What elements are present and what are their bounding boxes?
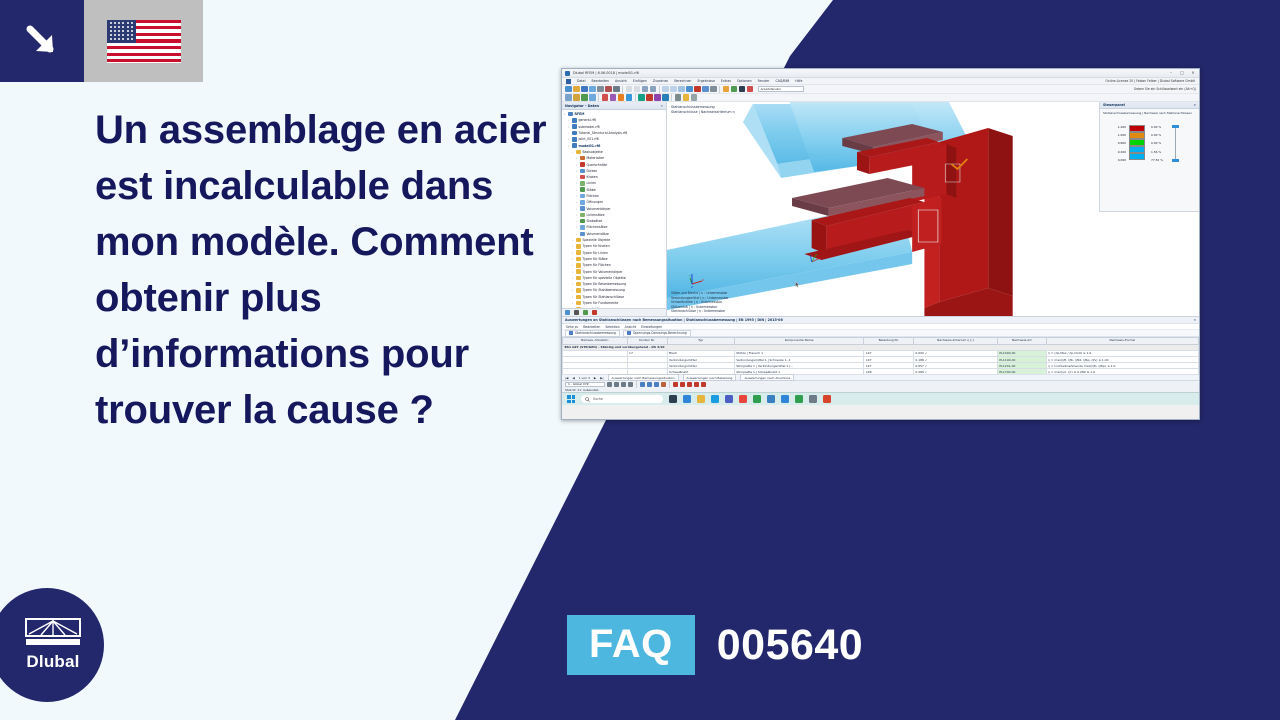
minimize-button[interactable]: – (1168, 70, 1174, 76)
navigator-item-icon (572, 143, 577, 148)
toolbar2-icon-stress[interactable] (654, 94, 661, 101)
status-icon-members[interactable] (687, 382, 692, 387)
toolbar2-icon-annotate[interactable] (683, 94, 690, 101)
app-icon (565, 71, 570, 76)
color-legend: 1.2001.0000.8000.2000.000 0.00 %0.00 %0.… (1100, 125, 1199, 162)
navigator-item-label: Stäbe (587, 188, 596, 192)
faq-label: FAQ (567, 615, 695, 675)
legend-values: 1.2001.0000.8000.2000.000 (1114, 125, 1126, 162)
results-nav-next[interactable]: ▶ (594, 376, 596, 380)
app-statusbar: 1 - Global XYZ (562, 380, 1199, 387)
toolbar-icon-ortho[interactable] (678, 86, 685, 93)
navigator-item-label: model01.rf6 (579, 144, 601, 148)
toolbar-icon-load[interactable] (747, 86, 754, 93)
navigator-item-icon (572, 137, 577, 142)
toolbar-icon-section[interactable] (694, 86, 701, 93)
toolbar-icon-new[interactable] (565, 86, 572, 93)
navigator-item-icon (580, 219, 585, 224)
legend-percents: 0.00 %0.00 %0.00 %1.56 %77.52 % (1148, 125, 1163, 162)
toolbar-icon-print[interactable] (597, 86, 604, 93)
legend-percent: 0.00 % (1151, 125, 1163, 129)
faq-number: 005640 (717, 624, 864, 667)
taskbar-icon-teams[interactable] (725, 395, 733, 403)
viewport-label-line2: Stahlanschlüsse | Nachweiskriterium η (671, 110, 735, 115)
arrow-down-right-badge (0, 0, 84, 82)
navigator-item-icon (576, 250, 581, 255)
navigator-item-label: Typen für spezielle Objekte (583, 276, 626, 280)
navigator-item-label: submodel.rf6 (579, 125, 600, 129)
navigator-item-label: Linien (587, 181, 597, 185)
navigator-item-icon (580, 194, 585, 199)
viewport-status-lines: Stäbe und Bleche | η : UnbemessbarVerbin… (671, 291, 729, 314)
navigator-item-icon (580, 156, 585, 161)
status-icon-light[interactable] (661, 382, 666, 387)
license-info: Online-License 20 | Fabian Felber | Dlub… (1106, 79, 1196, 83)
legend-swatch (1129, 153, 1145, 160)
navigator-item-icon (580, 232, 585, 237)
navigator-close-icon[interactable]: ✕ (660, 104, 663, 108)
taskbar-icon-app-blue[interactable] (767, 395, 775, 403)
taskbar-icon-explorer-dark[interactable] (669, 395, 677, 403)
status-icon-supports[interactable] (680, 382, 685, 387)
results-column-header[interactable]: Bemess.-Situation (563, 338, 628, 345)
results-footer-tab-1[interactable]: Auswertungen nach Belastung (683, 374, 737, 381)
navigator-item-label: Typen für Stahlbemessung (583, 288, 625, 292)
app-title: Dlubal RFEM | 6.06.0018 | model01.rf6 (573, 71, 639, 75)
navigator-item-icon (576, 301, 581, 306)
toolbar-icon-view[interactable] (702, 86, 709, 93)
workspace-combo[interactable]: Arbeitsfenster (758, 86, 804, 92)
menu-item-fenster[interactable]: Fenster (758, 79, 770, 83)
status-icon-grid[interactable] (614, 382, 619, 387)
close-button[interactable]: ✕ (1190, 70, 1196, 76)
nav-footer-icon-display[interactable] (574, 310, 579, 315)
legend-percent: 0.00 % (1151, 133, 1163, 137)
toolbar-icon-copy[interactable] (626, 86, 633, 93)
results-close-icon[interactable]: ✕ (1193, 318, 1196, 322)
legend-percent: 0.00 % (1151, 141, 1163, 145)
results-nav-first[interactable]: |◀ (565, 376, 568, 380)
legend-swatch (1129, 125, 1145, 132)
results-footer-tab-2[interactable]: Auswertungen nach Anschluss (740, 374, 794, 381)
legend-swatch (1129, 139, 1145, 146)
status-icon-osnap[interactable] (628, 382, 633, 387)
toolbar-icon-results[interactable] (731, 86, 738, 93)
maximize-button[interactable]: □ (1179, 70, 1185, 76)
results-tab-steel-connection[interactable]: Stahlanschlussbemessung (565, 330, 620, 337)
taskbar-search-input[interactable]: Suche (581, 395, 663, 403)
navigator-item-icon (576, 257, 581, 262)
model-viewport[interactable]: Y X Z Stahlanschlussbemessung Stahlansch… (667, 102, 1199, 316)
navigator-item-icon (580, 206, 585, 211)
toolbar-icon-zoom[interactable] (710, 86, 717, 93)
navigator-item-icon (572, 131, 577, 136)
results-footer: |◀ ◀ 1 von 3 ▶ ▶| Auswertungen nach Beme… (562, 374, 1199, 380)
toolbar2-icon-deform[interactable] (638, 94, 645, 101)
results-column-header[interactable]: Knoten Nr. (627, 338, 667, 345)
legend-slider[interactable] (1172, 125, 1179, 162)
menu-item-cadbim[interactable]: CAD/BIM (775, 79, 789, 83)
results-menu-selektion[interactable]: Selektion (605, 325, 619, 329)
taskbar-icon-settings[interactable] (683, 395, 691, 403)
control-panel-close-icon[interactable]: ✕ (1193, 103, 1196, 107)
legend-swatch (1129, 132, 1145, 139)
toolbar-icon-saveas[interactable] (589, 86, 596, 93)
toolbar-icon-render[interactable] (686, 86, 693, 93)
toolbar-icon-snap[interactable] (670, 86, 677, 93)
navigator-item-icon (576, 295, 581, 300)
menubar-logo-icon (566, 79, 571, 84)
results-tab-stress-strain[interactable]: Spannungs-Dehnungs-Berechnung (623, 330, 691, 337)
navigator-item-label: Knoten (587, 175, 598, 179)
toolbar2-icon-support[interactable] (610, 94, 617, 101)
legend-value: 1.200 (1114, 125, 1126, 129)
results-tab-label-1: Spannungs-Dehnungs-Berechnung (633, 331, 687, 335)
navigator-item-icon (568, 112, 573, 117)
taskbar-icon-chrome[interactable] (739, 395, 747, 403)
toolbar2-icon-node[interactable] (602, 94, 609, 101)
toolbar2-icon-layers[interactable] (691, 94, 698, 101)
control-panel-subtitle: Stahlanschlussbemessung | Nachweis nach … (1100, 109, 1199, 117)
faq-footer: FAQ 005640 (567, 615, 863, 675)
navigator-item-label: Flächen (587, 194, 599, 198)
svg-text:X: X (702, 278, 704, 282)
navigator-item-label: Typen für Stahlanschlüsse (583, 295, 625, 299)
navigator-item-icon (576, 282, 581, 287)
results-title-text: Auswertungen an Stahlanschlüssen nach Be… (565, 318, 783, 322)
dlubal-logo: Dlubal (0, 588, 104, 702)
navigator-item-icon (580, 169, 585, 174)
navigator-item-label: Basisobjekte (583, 150, 603, 154)
results-menu-gehezu[interactable]: Sehe zu (566, 325, 578, 329)
navigator-item-label: Typen für Volumenkörper (583, 270, 623, 274)
viewport-result-label: Stahlanschlussbemessung Stahlanschlüsse … (671, 105, 735, 115)
navigator-item-icon (576, 238, 581, 243)
navigator-panel: Navigator - Daten ✕ ›RFEM›general.rf6›su… (562, 102, 667, 316)
navigator-item-label: Typen für Flächen (583, 263, 611, 267)
results-menu-einstellungen[interactable]: Einstellungen (641, 325, 662, 329)
results-tab-strip[interactable]: Stahlanschlussbemessung Spannungs-Dehnun… (562, 330, 1199, 337)
nav-footer-icon-data[interactable] (565, 310, 570, 315)
status-icon-wire[interactable] (647, 382, 652, 387)
menu-item-optionen[interactable]: Optionen (737, 79, 752, 83)
viewport-status-line: Stahlanschlüsse | η : Unbemessbar (671, 309, 729, 314)
results-grid[interactable]: Bemess.-SituationKnoten Nr.TypKomponente… (562, 337, 1199, 374)
navigator-item-label: Volumensätze (587, 232, 609, 236)
taskbar-search-placeholder: Suche (593, 397, 603, 401)
toolbar-icon-calc[interactable] (723, 86, 730, 93)
rfem-application-screenshot: Dlubal RFEM | 6.06.0018 | model01.rf6 – … (561, 68, 1200, 420)
results-menu-bearbeiten[interactable]: Bearbeiten (583, 325, 600, 329)
results-nav-prev[interactable]: ◀ (572, 376, 574, 380)
navigator-item-label: Materialien (587, 156, 605, 160)
legend-swatch (1129, 146, 1145, 153)
taskbar-icon-app-green[interactable] (753, 395, 761, 403)
menu-item-datei[interactable]: Datei (577, 79, 586, 83)
mouse-cursor-icon (795, 281, 800, 288)
navigator-item-icon (580, 225, 585, 230)
toolbar-icon-paste[interactable] (634, 86, 641, 93)
navigator-item-icon (576, 244, 581, 249)
taskbar-icon-folder[interactable] (697, 395, 705, 403)
legend-value: 0.000 (1114, 158, 1126, 162)
results-column-header[interactable]: Nachweis-kriterium η [-] (913, 338, 997, 345)
navigator-item-icon (576, 150, 581, 155)
results-header-row: Bemess.-SituationKnoten Nr.TypKomponente… (563, 338, 1199, 345)
svg-text:Z: Z (691, 285, 693, 288)
toolbar2-icon-hinge[interactable] (618, 94, 625, 101)
results-page-info: 1 von 3 (579, 376, 590, 380)
navigator-item-label: Flächensätze (587, 225, 608, 229)
windows-taskbar: Suche (562, 392, 1199, 405)
arrow-down-right-icon (22, 21, 62, 61)
page-title: Un assemblage en acier est incalculable … (95, 102, 565, 438)
dlubal-truss-icon (25, 618, 81, 648)
results-column-header[interactable]: Komponente Name (734, 338, 864, 345)
status-icon-snap[interactable] (607, 382, 612, 387)
menu-item-bearbeiten[interactable]: Bearbeiten (592, 79, 610, 83)
toolbar-icon-undo[interactable] (642, 86, 649, 93)
results-column-header[interactable]: Nachweis-Formel (1046, 338, 1198, 345)
dlubal-logo-text: Dlubal (26, 652, 79, 672)
toolbar-icon-open[interactable] (573, 86, 580, 93)
taskbar-icon-excel[interactable] (795, 395, 803, 403)
menu-item-extras[interactable]: Extras (721, 79, 731, 83)
navigator-item-label: Querschnitte (587, 163, 608, 167)
legend-percent: 77.52 % (1151, 158, 1163, 162)
coordinate-system-select[interactable]: 1 - Global XYZ (565, 382, 605, 387)
toolbar-icon-stop[interactable] (739, 86, 746, 93)
toolbar2-icon-measure[interactable] (675, 94, 682, 101)
search-icon (585, 397, 590, 402)
status-icon-solid[interactable] (654, 382, 659, 387)
results-column-header[interactable]: Nachweis-Art (997, 338, 1046, 345)
results-menu-ansicht[interactable]: Ansicht (625, 325, 636, 329)
app-menubar: Datei Bearbeiten Ansicht Einfügen Zuordn… (562, 78, 1199, 85)
control-panel: Steuerpanel ✕ Stahlanschlussbemessung | … (1099, 102, 1199, 212)
navigator-item-label: Tutorial_Structural-Analysis.rf6 (579, 131, 628, 135)
navigator-item-icon (580, 175, 585, 180)
control-panel-title: Steuerpanel (1103, 103, 1125, 107)
taskbar-icon-rfem[interactable] (781, 395, 789, 403)
navigator-item-icon (572, 118, 577, 123)
toolbar2-icon-pointer[interactable] (565, 94, 572, 101)
navigator-item-label: Stabsätze (587, 219, 603, 223)
toolbar2-icon-forces[interactable] (646, 94, 653, 101)
tab-icon-stress (627, 331, 631, 335)
navigator-item-label: Typen für Stäbe (583, 257, 608, 261)
viewport-status-line: Stäbe und Bleche | η : Unbemessbar (671, 291, 729, 296)
taskbar-icon-edge[interactable] (711, 395, 719, 403)
legend-value: 1.000 (1114, 133, 1126, 137)
menu-item-hilfe[interactable]: Hilfe (795, 79, 802, 83)
legend-value: 0.200 (1114, 150, 1126, 154)
navigator-item-label: Typen für Linien (583, 251, 608, 255)
language-flag-badge[interactable] (84, 0, 203, 82)
navigator-footer (562, 308, 666, 316)
menu-item-einfuegen[interactable]: Einfügen (633, 79, 647, 83)
navigator-item-label: joint_001.rf6 (579, 137, 599, 141)
navigator-item-label: Öffnungen (587, 200, 604, 204)
windows-start-icon[interactable] (567, 395, 575, 403)
navigator-item-label: RFEM (575, 112, 585, 116)
results-footer-tab-0[interactable]: Auswertungen nach Bemessungssituation (608, 374, 679, 381)
navigator-item-icon (580, 162, 585, 167)
status-icon-render[interactable] (640, 382, 645, 387)
navigator-item-label: Dicken (587, 169, 598, 173)
svg-text:Y: Y (689, 274, 691, 278)
menu-item-ergebnisse[interactable]: Ergebnisse (697, 79, 714, 83)
navigator-item-label: general.rf6 (579, 118, 597, 122)
results-tab-label-0: Stahlanschlussbemessung (575, 331, 616, 335)
app-titlebar: Dlubal RFEM | 6.06.0018 | model01.rf6 – … (562, 69, 1199, 78)
navigator-item-label: Liniensätze (587, 213, 605, 217)
results-column-header[interactable]: Belastung Nr. (864, 338, 913, 345)
nav-footer-icon-views[interactable] (592, 310, 597, 315)
navigator-item-icon (580, 181, 585, 186)
faq-slide: Un assemblage en acier est incalculable … (0, 0, 1280, 720)
navigator-item-icon (580, 187, 585, 192)
navigator-item-label: Spezielle Objekte (583, 238, 611, 242)
navigator-item-icon (576, 269, 581, 274)
toolbar2-icon-connection[interactable] (662, 94, 669, 101)
navigator-header: Navigator - Daten ✕ (562, 102, 666, 110)
navigator-item-icon (580, 200, 585, 205)
status-icon-loads[interactable] (673, 382, 678, 387)
legend-percent: 1.56 % (1151, 150, 1163, 154)
navigator-item-label: Volumenkörper (587, 207, 611, 211)
toolbar-icon-save[interactable] (581, 86, 588, 93)
legend-swatches (1129, 125, 1145, 162)
control-panel-header: Steuerpanel ✕ (1100, 102, 1199, 109)
app-workarea: Navigator - Daten ✕ ›RFEM›general.rf6›su… (562, 102, 1199, 316)
taskbar-icon-rstab[interactable] (823, 395, 831, 403)
navigator-item-label: Typen für Betonbemessung (583, 282, 627, 286)
navigator-item-icon (576, 276, 581, 281)
nav-footer-icon-results[interactable] (583, 310, 588, 315)
navigator-title: Navigator - Daten (565, 104, 599, 108)
tab-icon-steel (569, 331, 573, 335)
secondary-toolbar[interactable] (562, 94, 1199, 102)
legend-value: 0.800 (1114, 141, 1126, 145)
results-table-panel: Auswertungen an Stahlanschlüssen nach Be… (562, 316, 1199, 380)
toolbar2-icon-loadcase[interactable] (626, 94, 633, 101)
axis-triad-icon: X Y Z (689, 272, 705, 288)
status-icon-nodes[interactable] (694, 382, 699, 387)
menu-item-zuordnen[interactable]: Zuordnen (653, 79, 668, 83)
navigator-item-label: Typen für Knoten (583, 244, 610, 248)
menu-item-ansicht[interactable]: Ansicht (615, 79, 627, 83)
navigator-item-icon (576, 263, 581, 268)
navigator-item-icon (576, 288, 581, 293)
main-toolbar[interactable]: Arbeitsfenster Geben Sie ein Schlüsselwo… (562, 85, 1199, 94)
toolbar-icon-redo[interactable] (650, 86, 657, 93)
taskbar-icon-gear[interactable] (809, 395, 817, 403)
toolbar-icon-grid[interactable] (662, 86, 669, 93)
status-icon-ortho[interactable] (621, 382, 626, 387)
results-column-header[interactable]: Typ (667, 338, 734, 345)
results-nav-last[interactable]: ▶| (600, 376, 603, 380)
us-flag-icon (107, 20, 181, 63)
status-icon-labels[interactable] (701, 382, 706, 387)
toolbar-icon-export[interactable] (613, 86, 620, 93)
navigator-item-icon (580, 213, 585, 218)
navigator-tree[interactable]: ›RFEM›general.rf6›submodel.rf6›Tutorial_… (562, 110, 666, 308)
results-table-title: Auswertungen an Stahlanschlüssen nach Be… (562, 317, 1199, 324)
toolbar2-icon-line[interactable] (573, 94, 580, 101)
toolbar2-icon-member[interactable] (581, 94, 588, 101)
navigator-item-label: Typen für Fundamente (583, 301, 619, 305)
navigator-item-icon (572, 124, 577, 129)
toolbar2-icon-surface[interactable] (589, 94, 596, 101)
search-hint: Geben Sie ein Schlüsselwort ein (Alt+Q) (1134, 87, 1196, 91)
menu-item-berechnen[interactable]: Berechnen (674, 79, 691, 83)
toolbar-icon-printpreview[interactable] (605, 86, 612, 93)
